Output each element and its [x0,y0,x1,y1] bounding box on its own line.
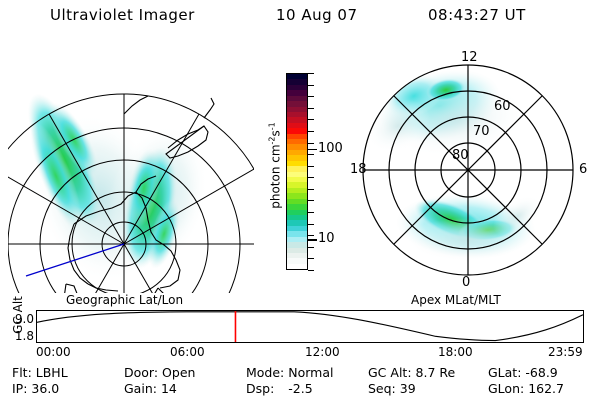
status-glat-value: -68.9 [525,365,557,380]
time-tick-1800: 18:00 [438,345,473,359]
mlat-label-80: 80 [452,148,469,163]
colorbar-axis-label: photon cm-2s-1 [268,101,283,231]
colorbar-tick-mark [308,247,314,248]
colorbar-tick-mark [308,200,314,201]
status-gain-label: Gain: [124,381,157,396]
mlt-label-18: 18 [350,162,367,177]
status-gcalt-value: 8.7 Re [416,365,456,380]
status-mode-label: Mode: [246,365,284,380]
colorbar-unit-exp1: -2 [268,136,277,144]
status-ip-label: IP: [12,381,27,396]
geographic-map [8,48,254,293]
colorbar-tick-mark [308,189,314,190]
apex-panel: 12 6 0 18 60 70 80 [348,48,592,293]
colorbar-tick-mark [308,235,314,236]
colorbar-tick-mark [308,177,314,178]
observation-date: 10 Aug 07 [276,6,358,24]
status-flt: Flt: LBHL [12,365,68,380]
status-gcalt-label: GC Alt: [368,365,412,380]
apex-dial [348,48,592,293]
colorbar-tick-mark [308,270,314,271]
time-tick-2359: 23:59 [548,345,583,359]
colorbar-major-tick-10 [308,239,317,241]
colorbar-tick-mark [308,73,314,74]
colorbar: photon cm-2s-1 10010 [258,60,346,295]
status-ip: IP: 36.0 [12,381,59,396]
orbit-trace [37,311,583,342]
orbit-y-tick-low: 1.8 [4,329,34,343]
colorbar-major-tick-100 [308,149,317,151]
coastline-southern-landmass [64,284,178,293]
status-seq: Seq: 39 [368,381,416,396]
orbit-altitude-plot[interactable] [36,310,584,343]
colorbar-unit-main: photon cm [269,144,283,208]
colorbar-tick-mark [308,154,314,155]
status-mode-value: Normal [288,365,333,380]
colorbar-tick-mark [308,119,314,120]
status-seq-label: Seq: [368,381,396,396]
instrument-title: Ultraviolet Imager [50,6,195,24]
mlt-label-12: 12 [461,50,478,65]
colorbar-band-35 [287,264,307,269]
observation-time: 08:43:27 UT [428,6,526,24]
aurora-nightside [394,187,550,263]
colorbar-tick-mark [308,96,314,97]
colorbar-tick-mark [308,258,314,259]
status-dsp: Dsp: -2.5 [246,381,313,396]
status-gain-value: 14 [161,381,177,396]
time-tick-0600: 06:00 [170,345,205,359]
orbit-y-tick-high: 9.0 [4,312,34,326]
geographic-panel-caption: Geographic Lat/Lon [66,293,183,307]
status-row-1: Flt: LBHL Door: Open Mode: Normal GC Alt… [0,365,600,381]
status-gcalt: GC Alt: 8.7 Re [368,365,455,380]
geographic-panel [8,48,254,293]
status-glat-label: GLat: [488,365,521,380]
time-tick-0000: 00:00 [36,345,71,359]
colorbar-gradient [286,73,308,270]
status-flt-label: Flt: [12,365,32,380]
colorbar-tick-mark [308,212,314,213]
status-block: Flt: LBHL Door: Open Mode: Normal GC Alt… [0,365,600,397]
status-dsp-label: Dsp: [246,381,274,396]
status-ip-value: 36.0 [31,381,59,396]
status-glat: GLat: -68.9 [488,365,558,380]
status-dsp-value: -2.5 [288,381,312,396]
mlat-label-70: 70 [473,124,490,139]
colorbar-unit-exp2: -1 [268,122,277,130]
status-row-2: IP: 36.0 Gain: 14 Dsp: -2.5 Seq: 39 GLon… [0,381,600,397]
colorbar-unit-mid: s [269,130,283,136]
colorbar-tick-label-100: 100 [318,142,343,155]
colorbar-tick-mark [308,108,314,109]
status-gain: Gain: 14 [124,381,177,396]
colorbar-tick-mark [308,85,314,86]
status-mode: Mode: Normal [246,365,334,380]
mlt-spokes [363,65,573,275]
colorbar-tick-mark [308,224,314,225]
colorbar-tick-mark [308,166,314,167]
colorbar-tick-label-10: 10 [318,232,335,245]
header: Ultraviolet Imager 10 Aug 07 08:43:27 UT [0,6,600,32]
uvi-display: Ultraviolet Imager 10 Aug 07 08:43:27 UT [0,0,600,400]
status-door: Door: Open [124,365,195,380]
mlt-label-6: 6 [579,162,587,177]
mlt-label-0: 0 [462,275,470,290]
status-door-label: Door: [124,365,158,380]
status-glon-label: GLon: [488,381,524,396]
status-glon: GLon: 162.7 [488,381,564,396]
status-door-value: Open [162,365,195,380]
colorbar-tick-mark [308,131,314,132]
status-seq-value: 39 [400,381,416,396]
time-tick-1200: 12:00 [305,345,340,359]
status-glon-value: 162.7 [528,381,564,396]
status-flt-value: LBHL [36,365,68,380]
colorbar-tick-mark [308,143,314,144]
mlat-label-60: 60 [494,99,511,114]
apex-panel-caption: Apex MLat/MLT [411,293,501,307]
